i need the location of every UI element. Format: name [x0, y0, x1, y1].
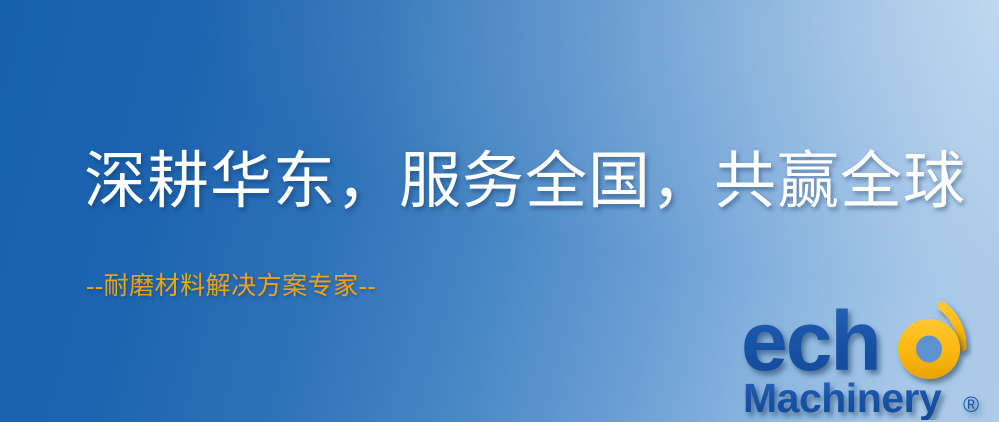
logo-tagline-machinery: Machinery [743, 375, 942, 420]
echo-machinery-logo[interactable]: ech Machinery ® [739, 292, 991, 420]
banner-subtitle: --耐磨材料解决方案专家-- [86, 266, 376, 302]
banner-headline: 深耕华东，服务全国，共赢全球 [84, 150, 966, 215]
logo-registered-mark: ® [963, 392, 979, 417]
promo-banner: 深耕华东，服务全国，共赢全球 --耐磨材料解决方案专家-- [0, 0, 999, 422]
logo-wordmark-echo: ech [741, 294, 880, 388]
